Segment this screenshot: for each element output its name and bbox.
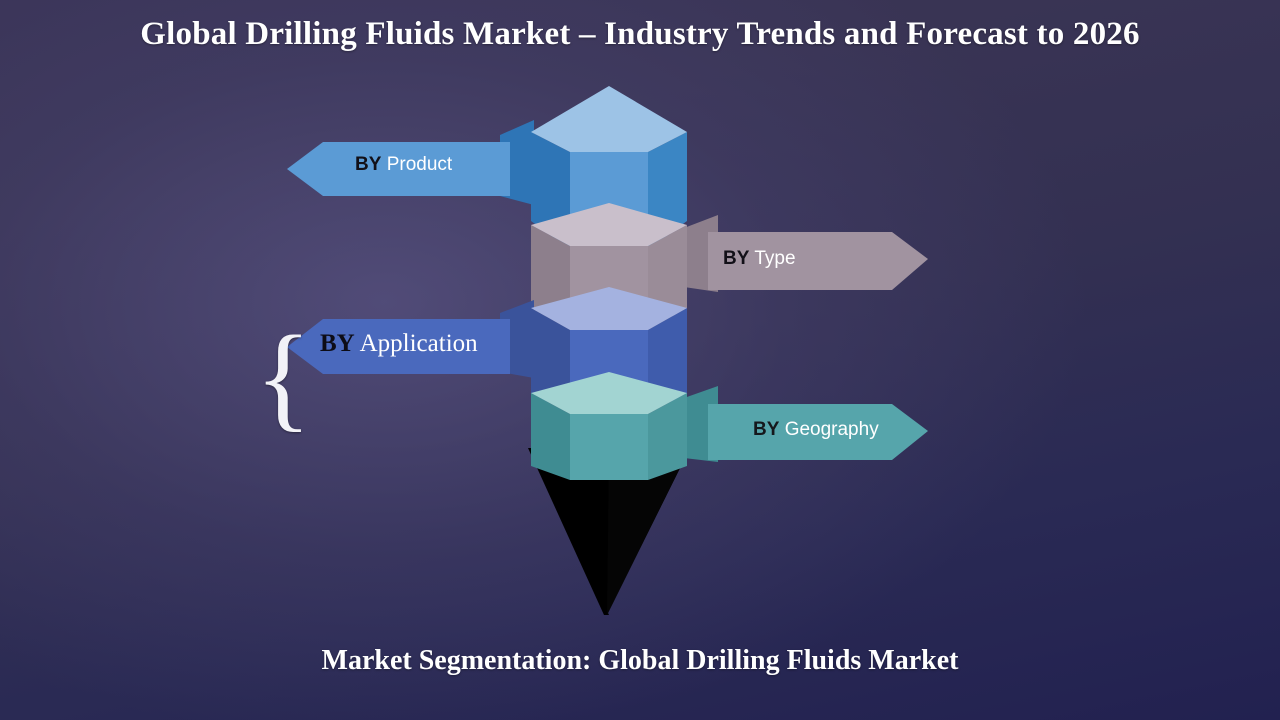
segment-geography[interactable] [531,372,928,480]
geography-front-face [570,414,648,480]
callout-geography[interactable] [708,404,928,460]
slide-canvas: Global Drilling Fluids Market – Industry… [0,0,1280,720]
callout-type[interactable] [708,232,928,290]
segmentation-diagram [0,0,1280,720]
callout-product[interactable] [287,142,510,196]
callout-application[interactable] [287,319,510,374]
page-title: Global Drilling Fluids Market – Industry… [0,16,1280,53]
product-top-face [531,86,687,152]
curly-brace-icon: { [255,318,312,436]
page-caption: Market Segmentation: Global Drilling Flu… [0,645,1280,677]
